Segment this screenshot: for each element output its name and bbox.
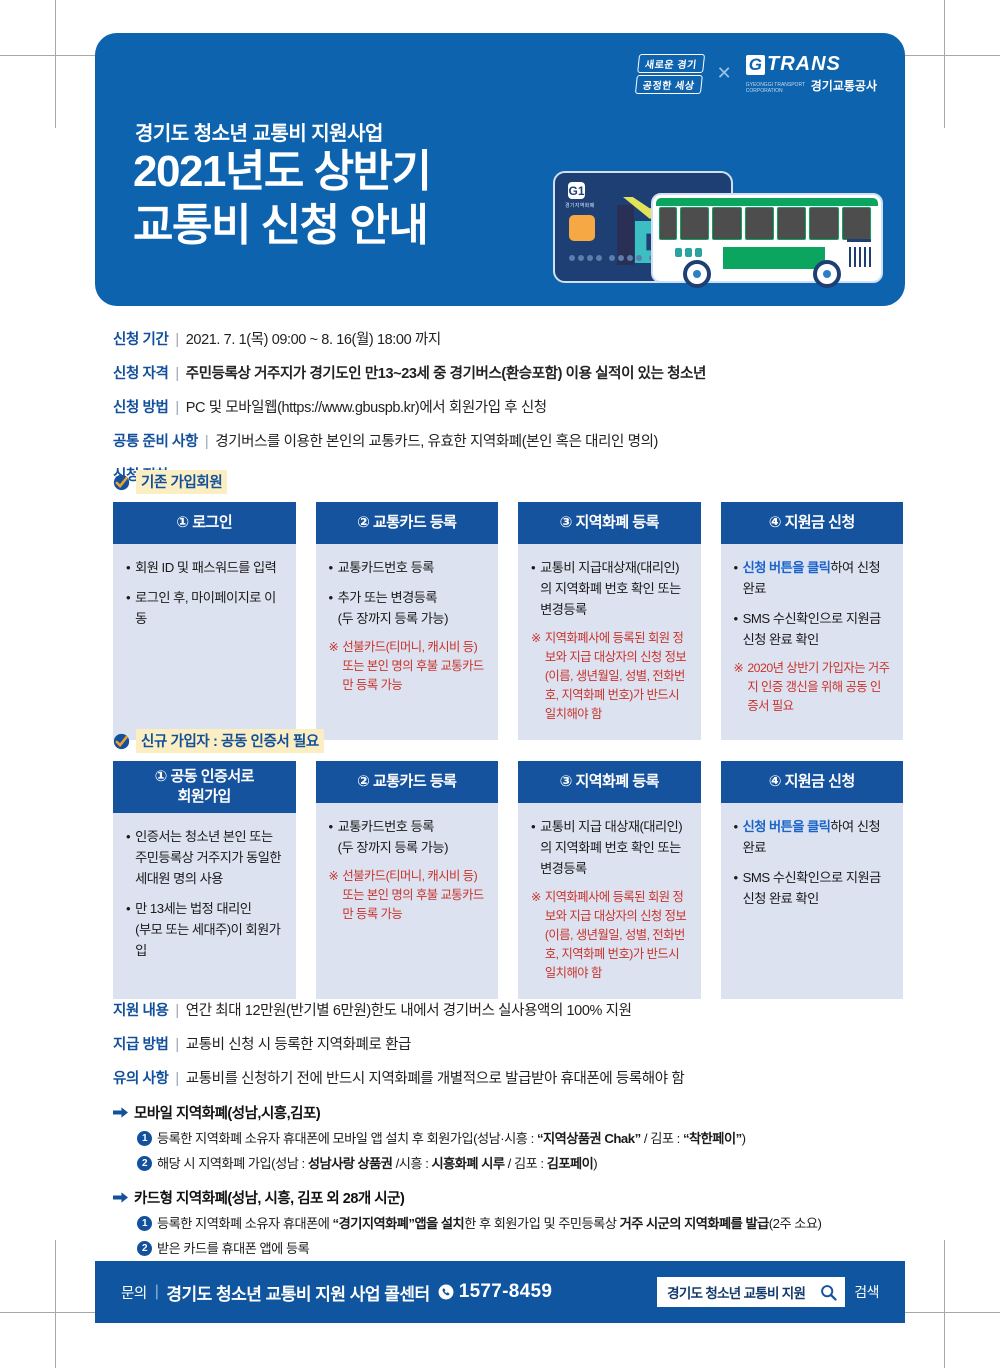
info-value-period: 2021. 7. 1(목) 09:00 ~ 8. 16(월) 18:00 까지 xyxy=(186,328,441,349)
arrow-right-icon xyxy=(113,1191,128,1204)
step-card-note: ※2020년 상반기 가입자는 거주지 인증 갱신을 위해 공동 인증서 필요 xyxy=(734,659,891,716)
bullet-item: •신청 버튼을 클릭하여 신청 완료 xyxy=(734,816,891,858)
step-cards-existing: ① 로그인 •회원 ID 및 패스워드를 입력 •로그인 후, 마이페이지로 이… xyxy=(113,502,903,740)
crop-mark-top-left-vertical xyxy=(55,0,56,128)
lower-info-block: 지원 내용 | 연간 최대 12만원(반기별 6만원)한도 내에서 경기버스 실… xyxy=(113,999,913,1258)
search-box[interactable]: 경기도 청소년 교통비 지원 xyxy=(657,1277,845,1307)
footer-phone-number[interactable]: 1577-8459 xyxy=(459,1281,553,1303)
step-card-title: ② 교통카드 등록 xyxy=(316,502,499,544)
logo-group: 새로운 경기 공정한 세상 ✕ G TRANS GYEONGGI TRANSPO… xyxy=(637,53,877,94)
step-card-title: ③ 지역화폐 등록 xyxy=(518,761,701,803)
gyeonggi-slogan-logo: 새로운 경기 공정한 세상 xyxy=(635,54,705,94)
info-separator: | xyxy=(175,1003,178,1019)
step-card-4-apply-subsidy: ④ 지원금 신청 •신청 버튼을 클릭하여 신청 완료 •SMS 수신확인으로 … xyxy=(721,761,904,999)
info-value-support-content: 연간 최대 12만원(반기별 6만원)한도 내에서 경기버스 실사용액의 100… xyxy=(186,999,632,1020)
group-heading-card-currency: 카드형 지역화폐(성남, 시흥, 김포 외 28개 시군) xyxy=(113,1187,913,1208)
gtrans-logo: G TRANS GYEONGGI TRANSPORT CORPORATION 경… xyxy=(746,53,877,94)
bullet-item: •인증서는 청소년 본인 또는 주민등록상 거주지가 동일한 세대원 명의 사용 xyxy=(126,826,283,889)
step-number-badge: 2 xyxy=(137,1156,152,1171)
step-card-note: ※지역화폐사에 등록된 회원 정보와 지급 대상자의 신청 정보(이름, 생년월… xyxy=(531,629,688,724)
info-label-caution: 유의 사항 xyxy=(113,1067,168,1088)
section-new-members: 신규 가입자 : 공동 인증서 필요 ① 공동 인증서로 회원가입 •인증서는 … xyxy=(113,729,903,999)
step-card-4-apply-subsidy: ④ 지원금 신청 •신청 버튼을 클릭하여 신청 완료 •SMS 수신확인으로 … xyxy=(721,502,904,740)
bullet-item: •교통카드번호 등록 (두 장까지 등록 가능) xyxy=(329,816,486,858)
footer-callcenter-name: 경기도 청소년 교통비 지원 사업 콜센터 xyxy=(166,1280,429,1305)
section-badge-new: 신규 가입자 : 공동 인증서 필요 xyxy=(113,729,903,753)
info-label-eligibility: 신청 자격 xyxy=(113,362,168,383)
card-g1-logo-icon: G1 xyxy=(568,182,585,199)
step-card-1-login: ① 로그인 •회원 ID 및 패스워드를 입력 •로그인 후, 마이페이지로 이… xyxy=(113,502,296,740)
step-card-body: •교통카드번호 등록 •추가 또는 변경등록 (두 장까지 등록 가능) ※선불… xyxy=(316,544,499,740)
info-separator: | xyxy=(175,400,178,416)
step-card-body: •교통비 지급 대상재(대리인)의 지역화폐 번호 확인 또는 변경등록 ※지역… xyxy=(518,803,701,999)
info-value-eligibility: 주민등록상 거주지가 경기도인 만13~23세 중 경기버스(환승포함) 이용 … xyxy=(186,362,706,383)
info-label-support-content: 지원 내용 xyxy=(113,999,168,1020)
header-eyebrow: 경기도 청소년 교통비 지원사업 xyxy=(135,117,383,146)
gtrans-wordmark: TRANS xyxy=(767,53,841,76)
section-badge-new-label: 신규 가입자 : 공동 인증서 필요 xyxy=(136,729,324,753)
info-row-period: 신청 기간 | 2021. 7. 1(목) 09:00 ~ 8. 16(월) 1… xyxy=(113,328,903,349)
section-badge-existing-label: 기존 가입회원 xyxy=(136,470,227,494)
bullet-item: •교통비 지급대상재(대리인)의 지역화폐 번호 확인 또는 변경등록 xyxy=(531,557,688,620)
bus-illustration xyxy=(651,193,883,283)
section-existing-members: 기존 가입회원 ① 로그인 •회원 ID 및 패스워드를 입력 •로그인 후, … xyxy=(113,470,903,740)
check-circle-icon xyxy=(113,474,130,491)
list-item: 2 해당 시 지역화폐 가입(성남 : 성남사랑 상품권 /시흥 : 시흥화폐 … xyxy=(137,1154,913,1173)
check-circle-icon xyxy=(113,733,130,750)
step-card-title: ④ 지원금 신청 xyxy=(721,761,904,803)
group-heading-mobile-currency-label: 모바일 지역화폐(성남,시흥,김포) xyxy=(134,1102,320,1123)
info-row-support-content: 지원 내용 | 연간 최대 12만원(반기별 6만원)한도 내에서 경기버스 실… xyxy=(113,999,913,1020)
info-value-caution: 교통비를 신청하기 전에 반드시 지역화폐를 개별적으로 발급받아 휴대폰에 등… xyxy=(186,1067,685,1088)
step-card-note: ※선불카드(티머니, 캐시비 등) 또는 본인 명의 후불 교통카드만 등록 가… xyxy=(329,638,486,695)
info-label-preparation: 공통 준비 사항 xyxy=(113,430,198,451)
card-chip-icon xyxy=(569,215,595,241)
search-button[interactable] xyxy=(813,1279,843,1305)
group-heading-card-currency-label: 카드형 지역화폐(성남, 시흥, 김포 외 28개 시군) xyxy=(134,1187,404,1208)
info-separator: | xyxy=(175,1037,178,1053)
info-row-caution: 유의 사항 | 교통비를 신청하기 전에 반드시 지역화폐를 개별적으로 발급받… xyxy=(113,1067,913,1088)
info-separator: | xyxy=(175,366,178,382)
highlight-apply-button: 신청 버튼을 클릭 xyxy=(743,819,831,834)
footer-separator: | xyxy=(155,1283,159,1301)
info-separator: | xyxy=(205,434,208,450)
poster-footer: 문의 | 경기도 청소년 교통비 지원 사업 콜센터 1577-8459 경기도… xyxy=(95,1261,905,1323)
section-badge-existing: 기존 가입회원 xyxy=(113,470,903,494)
list-item: 1 등록한 지역화폐 소유자 휴대폰에 “경기지역화폐”앱을 설치한 후 회원가… xyxy=(137,1214,913,1233)
crop-mark-top-right-vertical xyxy=(944,0,945,128)
bullet-item: •교통카드번호 등록 xyxy=(329,557,486,578)
gyeonggi-slogan-line1: 새로운 경기 xyxy=(637,54,705,73)
list-item: 2 받은 카드를 휴대폰 앱에 등록 xyxy=(137,1239,913,1258)
header-title: 2021년도 상반기 교통비 신청 안내 xyxy=(133,145,431,253)
header-title-line2: 교통비 신청 안내 xyxy=(133,199,431,253)
step-card-body: •교통카드번호 등록 (두 장까지 등록 가능) ※선불카드(티머니, 캐시비 … xyxy=(316,803,499,999)
step-card-title: ① 로그인 xyxy=(113,502,296,544)
step-card-body: •신청 버튼을 클릭하여 신청 완료 •SMS 수신확인으로 지원금 신청 완료… xyxy=(721,803,904,999)
card-logo-caption: 경기지역화폐 xyxy=(565,202,594,209)
search-icon xyxy=(820,1284,837,1301)
info-value-method: PC 및 모바일웹(https://www.gbuspb.kr)에서 회원가입 … xyxy=(186,396,547,417)
step-number-badge: 1 xyxy=(137,1216,152,1231)
bullet-item: •만 13세는 법정 대리인 (부모 또는 세대주)이 회원가입 xyxy=(126,898,283,961)
poster-header: 새로운 경기 공정한 세상 ✕ G TRANS GYEONGGI TRANSPO… xyxy=(95,33,905,306)
footer-inquiry-label: 문의 xyxy=(121,1282,147,1303)
bullet-item: •로그인 후, 마이페이지로 이동 xyxy=(126,587,283,629)
footer-contact: 문의 | 경기도 청소년 교통비 지원 사업 콜센터 1577-8459 xyxy=(121,1280,552,1305)
step-card-body: •인증서는 청소년 본인 또는 주민등록상 거주지가 동일한 세대원 명의 사용… xyxy=(113,813,296,999)
gtrans-korean-name: 경기교통공사 xyxy=(811,77,877,94)
info-separator: | xyxy=(175,332,178,348)
bullet-item: •신청 버튼을 클릭하여 신청 완료 xyxy=(734,557,891,599)
step-card-2-transit-card: ② 교통카드 등록 •교통카드번호 등록 •추가 또는 변경등록 (두 장까지 … xyxy=(316,502,499,740)
gtrans-english-name: GYEONGGI TRANSPORT CORPORATION xyxy=(746,82,806,94)
info-separator: | xyxy=(175,1071,178,1087)
gyeonggi-slogan-line2: 공정한 세상 xyxy=(635,75,703,94)
info-label-payment-method: 지급 방법 xyxy=(113,1033,168,1054)
bullet-item: •SMS 수신확인으로 지원금 신청 완료 확인 xyxy=(734,867,891,909)
info-row-method: 신청 방법 | PC 및 모바일웹(https://www.gbuspb.kr)… xyxy=(113,396,903,417)
step-card-body: •신청 버튼을 클릭하여 신청 완료 •SMS 수신확인으로 지원금 신청 완료… xyxy=(721,544,904,740)
step-card-body: •교통비 지급대상재(대리인)의 지역화폐 번호 확인 또는 변경등록 ※지역화… xyxy=(518,544,701,740)
info-label-period: 신청 기간 xyxy=(113,328,168,349)
step-card-note: ※지역화폐사에 등록된 회원 정보와 지급 대상자의 신청 정보(이름, 생년월… xyxy=(531,888,688,983)
info-row-payment-method: 지급 방법 | 교통비 신청 시 등록한 지역화폐로 환급 xyxy=(113,1033,913,1054)
step-card-body: •회원 ID 및 패스워드를 입력 •로그인 후, 마이페이지로 이동 xyxy=(113,544,296,740)
step-number-badge: 2 xyxy=(137,1241,152,1256)
step-cards-new: ① 공동 인증서로 회원가입 •인증서는 청소년 본인 또는 주민등록상 거주지… xyxy=(113,761,903,999)
phone-icon xyxy=(438,1284,454,1300)
step-card-title: ② 교통카드 등록 xyxy=(316,761,499,803)
poster-root: 새로운 경기 공정한 세상 ✕ G TRANS GYEONGGI TRANSPO… xyxy=(0,0,1000,1368)
info-label-method: 신청 방법 xyxy=(113,396,168,417)
search-input[interactable]: 경기도 청소년 교통비 지원 xyxy=(659,1282,813,1302)
header-illustration: G1 경기지역화폐 xyxy=(543,163,883,291)
step-card-3-local-currency: ③ 지역화폐 등록 •교통비 지급대상재(대리인)의 지역화폐 번호 확인 또는… xyxy=(518,502,701,740)
bullet-item: •추가 또는 변경등록 (두 장까지 등록 가능) xyxy=(329,587,486,629)
group-heading-mobile-currency: 모바일 지역화폐(성남,시흥,김포) xyxy=(113,1102,913,1123)
bullet-item: •SMS 수신확인으로 지원금 신청 완료 확인 xyxy=(734,608,891,650)
info-row-eligibility: 신청 자격 | 주민등록상 거주지가 경기도인 만13~23세 중 경기버스(환… xyxy=(113,362,903,383)
crop-mark-bottom-left-vertical xyxy=(55,1240,56,1368)
list-item: 1 등록한 지역화폐 소유자 휴대폰에 모바일 앱 설치 후 회원가입(성남·시… xyxy=(137,1129,913,1148)
footer-search-area: 경기도 청소년 교통비 지원 검색 xyxy=(657,1277,879,1307)
info-value-preparation: 경기버스를 이용한 본인의 교통카드, 유효한 지역화폐(본인 혹은 대리인 명… xyxy=(215,430,658,451)
step-card-title: ③ 지역화폐 등록 xyxy=(518,502,701,544)
search-label: 검색 xyxy=(854,1282,879,1302)
bullet-item: •회원 ID 및 패스워드를 입력 xyxy=(126,557,283,578)
logo-separator-x-icon: ✕ xyxy=(717,63,732,84)
step-number-badge: 1 xyxy=(137,1131,152,1146)
arrow-right-icon xyxy=(113,1106,128,1119)
step-card-note: ※선불카드(티머니, 캐시비 등) 또는 본인 명의 후불 교통카드만 등록 가… xyxy=(329,867,486,924)
step-card-1-certificate-signup: ① 공동 인증서로 회원가입 •인증서는 청소년 본인 또는 주민등록상 거주지… xyxy=(113,761,296,999)
step-card-3-local-currency: ③ 지역화폐 등록 •교통비 지급 대상재(대리인)의 지역화폐 번호 확인 또… xyxy=(518,761,701,999)
crop-mark-bottom-right-vertical xyxy=(944,1240,945,1368)
step-card-title: ① 공동 인증서로 회원가입 xyxy=(113,761,296,813)
step-card-2-transit-card: ② 교통카드 등록 •교통카드번호 등록 (두 장까지 등록 가능) ※선불카드… xyxy=(316,761,499,999)
gtrans-g-mark: G xyxy=(746,55,765,75)
info-row-preparation: 공통 준비 사항 | 경기버스를 이용한 본인의 교통카드, 유효한 지역화폐(… xyxy=(113,430,903,451)
header-title-line1: 2021년도 상반기 xyxy=(133,145,431,199)
bullet-item: •교통비 지급 대상재(대리인)의 지역화폐 번호 확인 또는 변경등록 xyxy=(531,816,688,879)
step-card-title: ④ 지원금 신청 xyxy=(721,502,904,544)
info-value-payment-method: 교통비 신청 시 등록한 지역화폐로 환급 xyxy=(186,1033,411,1054)
highlight-apply-button: 신청 버튼을 클릭 xyxy=(743,560,831,575)
